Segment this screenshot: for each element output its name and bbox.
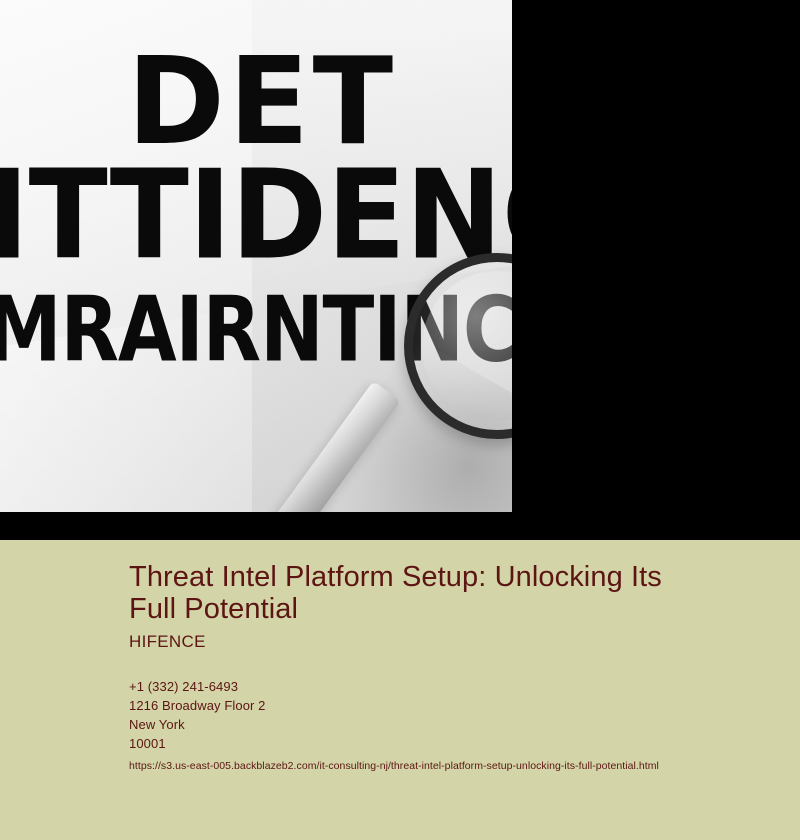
brand-name: HIFENCE (129, 632, 206, 652)
page-title: Threat Intel Platform Setup: Unlocking I… (129, 561, 704, 625)
magnifier-handle (274, 381, 400, 512)
hero-image-band: DET ITTIDENCA MRAIRNTINCTION (0, 0, 800, 540)
contact-block: +1 (332) 241-6493 1216 Broadway Floor 2 … (129, 677, 729, 753)
contact-city: New York (129, 715, 729, 734)
sign-text-line-3: MRAIRNTINCTION (0, 285, 512, 375)
hero-photo: DET ITTIDENCA MRAIRNTINCTION (0, 0, 512, 512)
contact-postal-code: 10001 (129, 734, 729, 753)
sign-text-line-2: ITTIDENCA (0, 155, 512, 278)
source-url[interactable]: https://s3.us-east-005.backblazeb2.com/i… (129, 759, 659, 773)
page-root: DET ITTIDENCA MRAIRNTINCTION Threat Inte… (0, 0, 800, 840)
contact-phone: +1 (332) 241-6493 (129, 677, 729, 696)
contact-street: 1216 Broadway Floor 2 (129, 696, 729, 715)
